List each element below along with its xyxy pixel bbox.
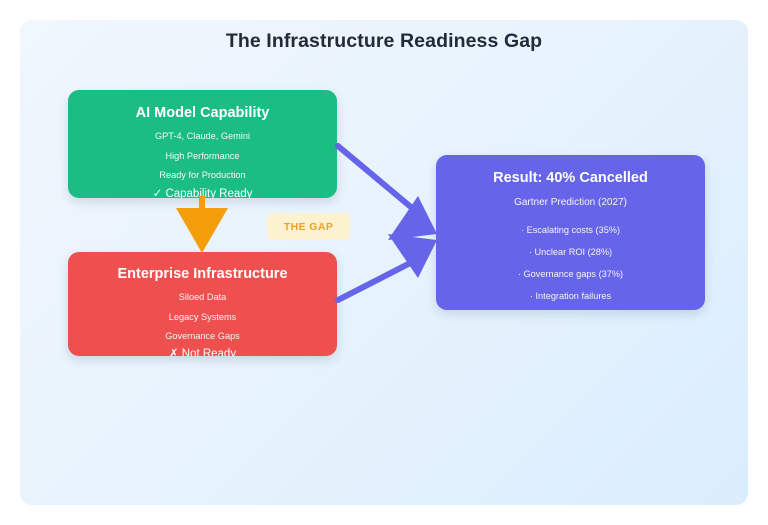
infrastructure-card-line: Siloed Data bbox=[68, 292, 337, 302]
result-card-bullet: · Governance gaps (37%) bbox=[436, 269, 705, 279]
capability-card-title: AI Model Capability bbox=[68, 105, 337, 122]
result-card-bullet: · Unclear ROI (28%) bbox=[436, 247, 705, 257]
the-gap-badge-label: THE GAP bbox=[284, 221, 333, 233]
infrastructure-card: Enterprise Infrastructure Siloed Data Le… bbox=[68, 252, 337, 356]
infrastructure-status-label: ✗ Not Ready bbox=[68, 348, 337, 356]
capability-card-line: High Performance bbox=[68, 151, 337, 161]
result-card-title: Result: 40% Cancelled bbox=[436, 170, 705, 187]
result-card-subtitle: Gartner Prediction (2027) bbox=[436, 197, 705, 208]
infrastructure-card-title: Enterprise Infrastructure bbox=[68, 266, 337, 283]
result-card-bullet: · Integration failures bbox=[436, 291, 705, 301]
page-title: The Infrastructure Readiness Gap bbox=[0, 30, 768, 53]
capability-card-line: GPT-4, Claude, Gemini bbox=[68, 131, 337, 141]
infrastructure-card-line: Legacy Systems bbox=[68, 312, 337, 322]
capability-status-label: ✓ Capability Ready bbox=[68, 188, 337, 198]
the-gap-badge: THE GAP bbox=[267, 213, 350, 240]
capability-card: AI Model Capability GPT-4, Claude, Gemin… bbox=[68, 90, 337, 198]
result-card-bullet: · Escalating costs (35%) bbox=[436, 225, 705, 235]
capability-card-line: Ready for Production bbox=[68, 170, 337, 180]
infrastructure-card-line: Governance Gaps bbox=[68, 331, 337, 341]
diagram-canvas: The Infrastructure Readiness Gap AI Mode… bbox=[0, 0, 768, 525]
result-card: Result: 40% Cancelled Gartner Prediction… bbox=[436, 155, 705, 310]
